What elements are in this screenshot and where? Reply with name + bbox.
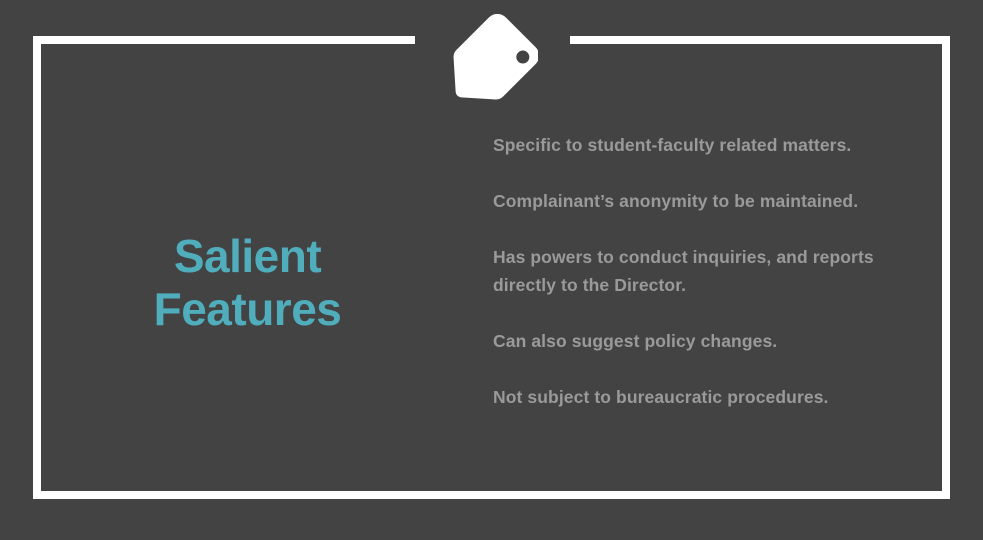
features-list: Specific to student-faculty related matt… bbox=[493, 131, 933, 411]
page-title-line-1: Salient bbox=[60, 230, 435, 283]
page-title-line-2: Features bbox=[60, 283, 435, 336]
list-item: Specific to student-faculty related matt… bbox=[493, 131, 933, 159]
list-item: Complainant’s anonymity to be maintained… bbox=[493, 187, 933, 215]
list-item: Can also suggest policy changes. bbox=[493, 327, 933, 355]
frame-border-right bbox=[942, 36, 950, 499]
list-item: Not subject to bureaucratic procedures. bbox=[493, 383, 933, 411]
frame-border-bottom bbox=[33, 491, 950, 499]
tag-icon bbox=[444, 14, 538, 110]
frame-border-top-right bbox=[570, 36, 950, 44]
slide-canvas: Salient Features Specific to student-fac… bbox=[0, 0, 983, 540]
frame-border-left bbox=[33, 36, 41, 499]
frame-border-top-left bbox=[33, 36, 415, 44]
page-title: Salient Features bbox=[60, 230, 435, 336]
list-item: Has powers to conduct inquiries, and rep… bbox=[493, 243, 933, 299]
